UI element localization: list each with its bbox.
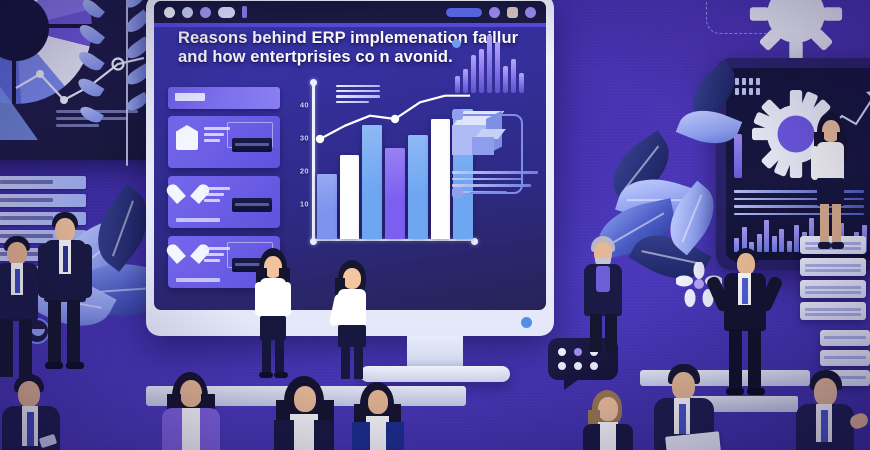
mini-bar: [495, 42, 500, 93]
businesswoman-foreground-right-center: [578, 390, 636, 450]
businessman-center-left: [36, 212, 92, 372]
businessman-reading-document: [646, 364, 726, 450]
chart-bar: [317, 174, 337, 239]
mini-bar: [471, 55, 476, 93]
list-item-caption: [176, 278, 220, 282]
chart-y-tick-labels: 40302010: [312, 83, 313, 231]
document-sheet: [800, 280, 866, 298]
chart-bar: [362, 125, 382, 239]
tablet-mini-bar: [787, 241, 792, 252]
card-header-label: [175, 93, 205, 101]
menu-circle-icon[interactable]: [525, 7, 536, 18]
chart-bar: [408, 135, 428, 239]
tab-pair-icon[interactable]: [218, 7, 235, 18]
indicator-dot: [749, 78, 753, 85]
monitor-stand-base: [360, 366, 510, 382]
businesswoman-bottom-center: [346, 382, 408, 450]
table-row: [0, 194, 86, 207]
tab-circle-icon[interactable]: [182, 7, 193, 18]
indicator-dot: [742, 78, 746, 85]
card-list-header: [168, 87, 280, 109]
value-bar: [232, 198, 272, 212]
table-row: [0, 176, 86, 189]
gear-icon: [748, 0, 844, 62]
businessman-left-edge: [0, 236, 44, 386]
leaf-sprig: [104, 0, 150, 166]
monitor-stand-neck: [407, 336, 463, 366]
businesswoman-foreground-center: [154, 372, 228, 450]
tablet-mini-bar: [779, 229, 784, 252]
mini-bar: [519, 73, 524, 93]
tablet-mini-bar: [794, 225, 799, 252]
address-pill[interactable]: [446, 8, 482, 17]
chart-bar: [340, 155, 360, 239]
indicator-dot: [742, 88, 746, 95]
value-bar: [232, 138, 272, 152]
indicator-dot: [756, 78, 760, 85]
indicator-dot: [735, 78, 739, 85]
mini-bar: [487, 35, 492, 93]
businesswoman-tablet-right: [806, 112, 852, 254]
list-item[interactable]: [168, 176, 280, 228]
chart-bar: [431, 119, 451, 239]
businessman-bottom-right: [790, 370, 870, 450]
chart-bar: [385, 148, 405, 239]
vertical-value-bar: [734, 134, 742, 178]
list-item-text: [204, 187, 230, 205]
axis-cap-icon: [310, 79, 317, 86]
indicator-dot: [735, 88, 739, 95]
tab-circle-icon[interactable]: [164, 7, 175, 18]
toolbar-underline: [154, 23, 546, 27]
mini-bar: [503, 66, 508, 93]
businesswoman-monitor-left: [250, 248, 296, 380]
document-sheet: [820, 330, 870, 346]
chart-y-tick-label: 20: [300, 167, 309, 176]
mini-bar: [463, 69, 468, 93]
businesswoman-bottom-left: [266, 376, 342, 450]
house-icon: [176, 125, 198, 150]
chart-y-tick-label: 40: [300, 101, 309, 110]
axis-cap-icon: [471, 238, 478, 245]
businessman-foreground-phone: [0, 374, 68, 450]
businesswoman-leaning: [326, 260, 378, 388]
browser-toolbar[interactable]: [154, 1, 546, 23]
mini-bar: [455, 76, 460, 93]
extension-icon[interactable]: [507, 7, 518, 18]
chart-bars: [317, 93, 473, 239]
power-indicator: [521, 317, 532, 328]
node-connector-icon: [452, 107, 538, 227]
tab-circle-icon[interactable]: [200, 7, 211, 18]
document-sheet: [800, 258, 866, 276]
businessman-elder-center-right: [580, 236, 626, 352]
screen-side-widgets: [452, 35, 538, 197]
list-item-caption: [176, 218, 220, 222]
illustration-canvas: Reasons behind ERP implemenation faillur…: [0, 0, 870, 450]
tab-bar-icon[interactable]: [242, 6, 247, 18]
chart-y-tick-label: 30: [300, 134, 309, 143]
heart-icon: [176, 245, 200, 267]
heart-icon: [176, 185, 200, 207]
axis-cap-icon: [310, 238, 317, 245]
3d-cube-icon: [452, 107, 538, 165]
profile-circle-icon[interactable]: [489, 7, 500, 18]
document-sheet: [820, 350, 870, 366]
main-bar-chart: 40302010: [294, 83, 474, 251]
list-item[interactable]: [168, 116, 280, 168]
mini-bar: [511, 59, 516, 93]
document-sheet: [800, 302, 866, 320]
chart-y-tick-label: 10: [300, 200, 309, 209]
mini-bar-chart: [452, 35, 538, 93]
status-dot: [452, 39, 461, 48]
mini-bar: [479, 49, 484, 93]
